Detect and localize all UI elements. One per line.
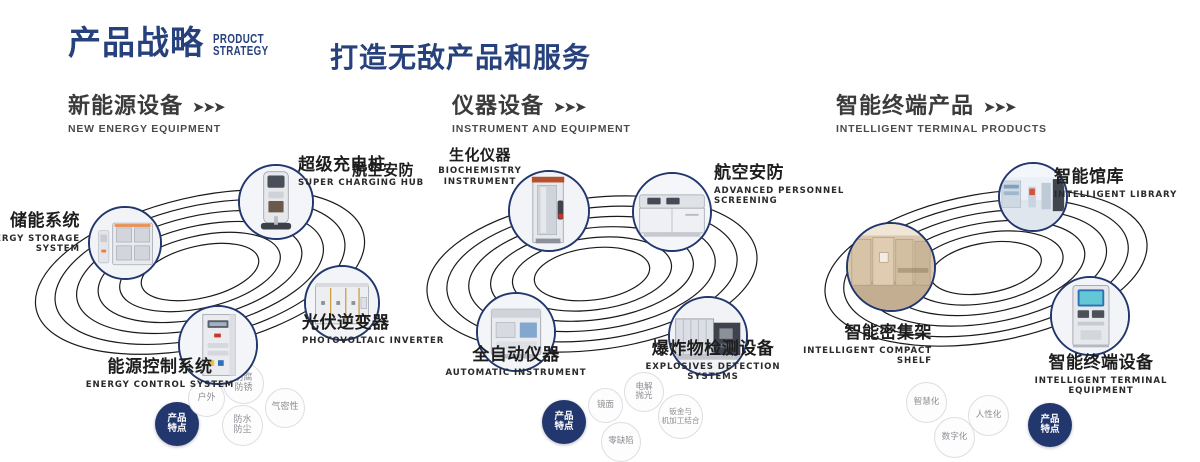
feature-bubble: 数字化 — [934, 417, 975, 458]
node-label-energy-control-system: 能源控制系统 ENERGY CONTROL SYSTEM — [80, 358, 240, 390]
node-label-en: INTELLIGENT COMPACTSHELF — [792, 346, 932, 367]
feature-bubble: 零缺陷 — [601, 422, 641, 462]
section-header-instrument: 仪器设备 ➤➤➤ INSTRUMENT AND EQUIPMENT — [452, 95, 631, 135]
chevron-right-icon: ➤➤➤ — [983, 99, 1015, 116]
node-label-en: INTELLIGENT LIBRARY — [1054, 190, 1200, 201]
product-photo-intelligent-compact-shelf[interactable] — [846, 222, 936, 312]
intelligent-compact-shelf-photo — [848, 224, 934, 310]
node-label-automatic-instrument: 全自动仪器 AUTOMATIC INSTRUMENT — [438, 346, 594, 378]
product-photo-advanced-personnel-screening[interactable] — [632, 172, 712, 252]
node-label-explosives-detection: 爆炸物检测设备 EXPLOSIVES DETECTION SYSTEMS — [628, 340, 798, 383]
node-label-en: AUTOMATIC INSTRUMENT — [438, 368, 594, 379]
core-bubble: 产品 特点 — [1028, 403, 1072, 447]
node-label-cn: 智能馆库 — [1054, 168, 1200, 188]
feature-bubble: 镜面 — [588, 388, 623, 423]
section-title-en: INSTRUMENT AND EQUIPMENT — [452, 123, 631, 135]
node-label-cn: 全自动仪器 — [438, 346, 594, 366]
node-label-cn: 能源控制系统 — [80, 358, 240, 378]
section-header-intelligent-terminal: 智能终端产品 ➤➤➤ INTELLIGENT TERMINAL PRODUCTS — [836, 95, 1047, 135]
section-title-en: INTELLIGENT TERMINAL PRODUCTS — [836, 123, 1047, 135]
node-label-en: BIOCHEMISTRYINSTRUMENT — [420, 166, 540, 187]
product-photo-energy-storage[interactable] — [88, 206, 162, 280]
section-title-cn: 仪器设备 — [452, 95, 544, 119]
node-label-cn: 智能密集架 — [792, 324, 932, 344]
node-label-cn: 航空安防 — [314, 162, 414, 179]
node-label-en: ENERGY CONTROL SYSTEM — [80, 380, 240, 391]
node-label-aviation-security-left: 航空安防 — [314, 162, 414, 179]
section-header-new-energy: 新能源设备 ➤➤➤ NEW ENERGY EQUIPMENT — [68, 95, 224, 135]
product-photo-intelligent-terminal-equipment[interactable] — [1050, 276, 1130, 356]
intelligent-terminal-equipment-photo — [1052, 278, 1128, 354]
cluster-instrument: 产品 特点 镜面 电解抛光 钣金与机加工结合 零缺陷 — [396, 150, 796, 410]
advanced-personnel-screening-photo — [634, 174, 710, 250]
node-label-en: INTELLIGENT TERMINAL EQUIPMENT — [1006, 376, 1196, 397]
node-label-cn: 智能终端设备 — [1006, 354, 1196, 374]
node-label-intelligent-terminal-equipment: 智能终端设备 INTELLIGENT TERMINAL EQUIPMENT — [1006, 354, 1196, 397]
core-bubble-line2: 特点 — [167, 424, 186, 434]
node-label-en: ENERGY STORAGESYSTEM — [0, 234, 80, 255]
feature-bubble: 人性化 — [968, 395, 1009, 436]
node-label-cn: 爆炸物检测设备 — [628, 340, 798, 360]
node-label-cn: 生化仪器 — [420, 147, 540, 164]
core-bubble: 产品 特点 — [542, 400, 586, 444]
section-title-cn: 智能终端产品 — [836, 95, 974, 119]
cluster-new-energy: 产品 特点 户外 防腐防锈 防水防尘 气密性 — [0, 150, 400, 410]
page-title-en: PRODUCT STRATEGY — [213, 33, 268, 57]
feature-bubble: 钣金与机加工结合 — [658, 394, 703, 439]
page-title-en-line2: STRATEGY — [213, 45, 268, 57]
chevron-right-icon: ➤➤➤ — [192, 99, 224, 116]
node-label-energy-storage: 储能系统 ENERGY STORAGESYSTEM — [0, 212, 80, 255]
node-label-intelligent-compact-shelf: 智能密集架 INTELLIGENT COMPACTSHELF — [792, 324, 932, 367]
node-label-en: EXPLOSIVES DETECTION SYSTEMS — [628, 362, 798, 383]
core-bubble-line1: 产品 — [1040, 415, 1059, 425]
page-title: 产品战略 PRODUCT STRATEGY — [68, 26, 284, 59]
section-title-cn: 新能源设备 — [68, 95, 183, 119]
feature-bubble: 智慧化 — [906, 382, 947, 423]
cluster-intelligent-terminal: 产品 特点 智慧化 人性化 数字化 — [800, 150, 1200, 410]
core-bubble-line2: 特点 — [1040, 425, 1059, 435]
chevron-right-icon: ➤➤➤ — [553, 99, 585, 116]
energy-storage-photo — [90, 208, 160, 278]
node-label-biochemistry-instrument: 生化仪器 BIOCHEMISTRYINSTRUMENT — [420, 147, 540, 188]
feature-bubble: 防水防尘 — [222, 405, 263, 446]
feature-bubble: 气密性 — [265, 388, 305, 428]
node-label-intelligent-library: 智能馆库 INTELLIGENT LIBRARY — [1054, 168, 1200, 200]
page-title-cn: 产品战略 — [68, 26, 204, 59]
section-title-en: NEW ENERGY EQUIPMENT — [68, 123, 224, 135]
page-subtitle: 打造无敌产品和服务 — [330, 36, 591, 76]
infographic-canvas: 产品战略 PRODUCT STRATEGY 打造无敌产品和服务 新能源设备 ➤➤… — [0, 0, 1200, 422]
node-label-cn: 储能系统 — [0, 212, 80, 232]
core-bubble-line1: 产品 — [167, 414, 186, 424]
core-bubble-line2: 特点 — [554, 422, 573, 432]
